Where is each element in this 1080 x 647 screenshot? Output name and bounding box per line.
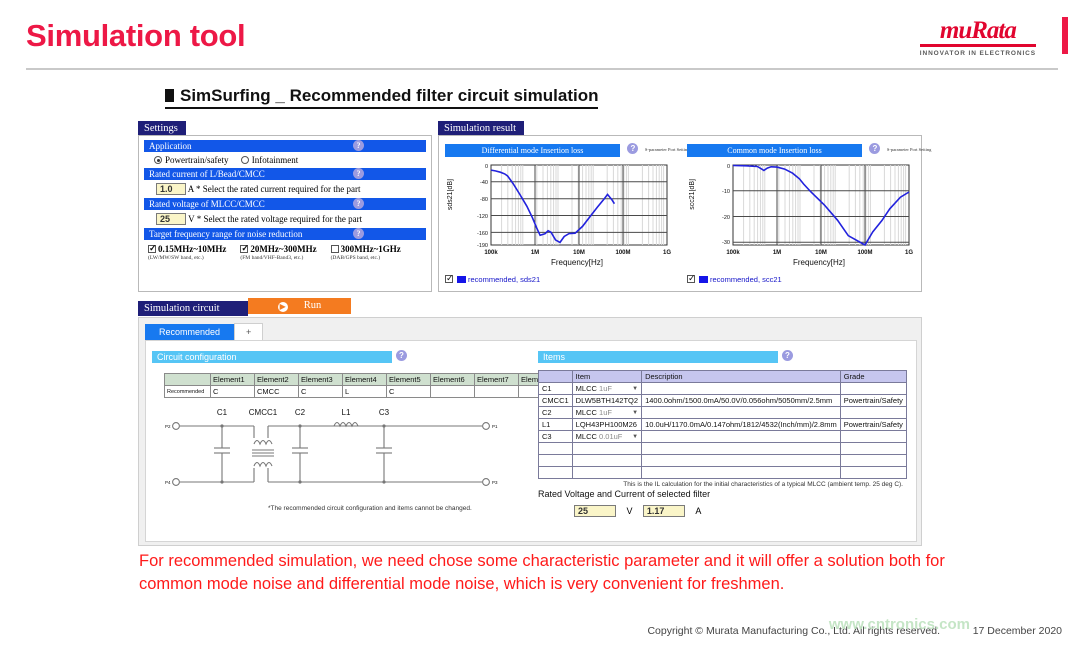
table-header-row: Element1 Element2 Element3 Element4 Elem… bbox=[165, 374, 563, 386]
svg-text:0: 0 bbox=[485, 164, 488, 170]
svg-text:-40: -40 bbox=[480, 180, 488, 186]
items-row-4-desc bbox=[642, 431, 841, 443]
component-label-cmcc1: CMCC1 bbox=[249, 408, 278, 417]
circuit-schematic: P2 P4 P1 P3 C1 CMCC1 C2 L1 C3 bbox=[152, 404, 532, 504]
svg-text:1M: 1M bbox=[531, 250, 539, 256]
group-target-frequency-label: Target frequency range for noise reducti… bbox=[149, 229, 302, 239]
sparam-port-setting-link-1[interactable]: S-parameter Port Setting bbox=[645, 147, 690, 152]
items-row-4-item[interactable]: MLCC 0.01uF▼ bbox=[572, 431, 641, 443]
simulation-result-panel-title: Simulation result bbox=[438, 121, 524, 136]
items-row-5-item[interactable] bbox=[572, 443, 641, 455]
elt-cell-7 bbox=[475, 386, 519, 398]
help-icon[interactable]: ? bbox=[869, 143, 880, 154]
checkbox-freq-2-sub: (FM band/VHF-Band3, etc.) bbox=[240, 255, 316, 261]
svg-text:10M: 10M bbox=[573, 250, 585, 256]
elt-cell-1: C bbox=[211, 386, 255, 398]
items-row-4-item-value: 0.01uF bbox=[599, 432, 622, 441]
items-row-4-item-name: MLCC bbox=[576, 432, 597, 441]
table-row: L1 LQH43PH100M26 10.0uH/1170.0mA/0.147oh… bbox=[539, 419, 907, 431]
chart-2-legend[interactable]: recommended, scc21 bbox=[687, 275, 925, 284]
items-row-1-desc: 1400.0ohm/1500.0mA/50.0V/0.056ohm/5050mm… bbox=[642, 395, 841, 407]
circuit-tabs: Recommended+ bbox=[145, 322, 263, 340]
elt-col-7: Element7 bbox=[475, 374, 519, 386]
items-row-3-desc: 10.0uH/1170.0mA/0.147ohm/1812/4532(Inch/… bbox=[642, 419, 841, 431]
table-row bbox=[539, 455, 907, 467]
svg-text:-10: -10 bbox=[722, 189, 730, 195]
items-row-0-desc bbox=[642, 383, 841, 395]
simulation-circuit-panel-title: Simulation circuit bbox=[138, 301, 248, 316]
table-row bbox=[539, 467, 907, 479]
chevron-down-icon: ▼ bbox=[632, 386, 638, 392]
svg-text:100k: 100k bbox=[726, 250, 740, 256]
checkbox-freq-1-sub: (LW/MW/SW band, etc.) bbox=[148, 255, 226, 261]
items-row-2-idx: C2 bbox=[539, 407, 573, 419]
help-icon[interactable]: ? bbox=[782, 350, 793, 361]
chart-common-mode: Common mode Insertion loss ? S-parameter… bbox=[687, 140, 925, 290]
run-button[interactable]: ▶Run bbox=[248, 298, 351, 314]
chart-2-legend-label: recommended, scc21 bbox=[710, 275, 782, 284]
radio-icon bbox=[241, 156, 249, 164]
radio-powertrain-label: Powertrain/safety bbox=[165, 155, 228, 165]
svg-text:100k: 100k bbox=[484, 250, 498, 256]
items-row-3-grade: Powertrain/Safety bbox=[840, 419, 906, 431]
run-button-label: Run bbox=[304, 300, 322, 311]
items-row-5-idx bbox=[539, 443, 573, 455]
svg-text:-190: -190 bbox=[477, 243, 488, 249]
filter-current-unit: A bbox=[695, 506, 701, 516]
simulation-result-panel: Differential mode Insertion loss ? S-par… bbox=[438, 135, 922, 292]
svg-text:100M: 100M bbox=[615, 250, 630, 256]
elt-rowlabel: Recommended bbox=[165, 386, 211, 398]
component-label-l1: L1 bbox=[342, 408, 351, 417]
simsurfing-app: Settings Application ? Powertrain/safety… bbox=[138, 118, 922, 546]
elt-col-6: Element6 bbox=[431, 374, 475, 386]
play-icon: ▶ bbox=[278, 302, 288, 312]
items-row-0-item-name: MLCC bbox=[576, 384, 597, 393]
filter-rated-current-input[interactable]: 1.17 bbox=[643, 505, 685, 517]
items-row-2-item-name: MLCC bbox=[576, 408, 597, 417]
checkbox-freq-1-label: 0.15MHz~10MHz bbox=[158, 244, 226, 254]
filter-rated-voltage-input[interactable]: 25 bbox=[574, 505, 616, 517]
checkbox-icon bbox=[331, 245, 339, 253]
component-label-c3: C3 bbox=[379, 408, 390, 417]
radio-infotainment[interactable]: Infotainment bbox=[241, 155, 299, 165]
items-row-4-idx: C3 bbox=[539, 431, 573, 443]
svg-text:0: 0 bbox=[727, 164, 730, 170]
square-bullet-icon bbox=[165, 89, 174, 102]
rated-filter-label: Rated Voltage and Current of selected fi… bbox=[538, 489, 912, 499]
items-row-0-grade bbox=[840, 383, 906, 395]
rated-voltage-unit: V bbox=[188, 214, 194, 224]
group-rated-voltage: Rated voltage of MLCC/CMCC ? bbox=[144, 198, 426, 210]
rated-current-unit: A bbox=[188, 184, 194, 194]
radio-powertrain-safety[interactable]: Powertrain/safety bbox=[154, 155, 228, 165]
group-application-label: Application bbox=[149, 141, 192, 151]
chart-2-plot: 0 -10 -20 -30 100k 1M 10M 100M 1G bbox=[703, 161, 923, 271]
checkbox-icon bbox=[240, 245, 248, 253]
items-row-6-grade bbox=[840, 455, 906, 467]
checkbox-freq-1[interactable]: 0.15MHz~10MHz (LW/MW/SW band, etc.) bbox=[148, 244, 226, 261]
group-application: Application ? bbox=[144, 140, 426, 152]
help-icon[interactable]: ? bbox=[353, 140, 364, 151]
elt-cell-2: CMCC bbox=[255, 386, 299, 398]
elt-cell-3: C bbox=[299, 386, 343, 398]
legend-swatch bbox=[699, 276, 708, 283]
svg-text:1M: 1M bbox=[773, 250, 781, 256]
table-row: C1 MLCC 1uF▼ bbox=[539, 383, 907, 395]
port-label-p2: P2 bbox=[165, 424, 171, 429]
page-title: Simulation tool bbox=[26, 18, 245, 54]
items-col-item: Item bbox=[572, 371, 641, 383]
items-row-5-grade bbox=[840, 443, 906, 455]
table-row: C3 MLCC 0.01uF▼ bbox=[539, 431, 907, 443]
filter-voltage-unit: V bbox=[626, 506, 632, 516]
items-row-2-item[interactable]: MLCC 1uF▼ bbox=[572, 407, 641, 419]
help-icon[interactable]: ? bbox=[353, 198, 364, 209]
rated-current-input[interactable]: 1.0 bbox=[156, 183, 186, 195]
elt-cell-6 bbox=[431, 386, 475, 398]
tab-recommended[interactable]: Recommended bbox=[145, 324, 234, 340]
chart-1-ylabel: sds21[dB] bbox=[447, 179, 454, 210]
chart-1-title: Differential mode Insertion loss bbox=[445, 144, 620, 157]
group-target-frequency: Target frequency range for noise reducti… bbox=[144, 228, 426, 240]
frequency-range-checkboxes: 0.15MHz~10MHz (LW/MW/SW band, etc.) 20MH… bbox=[144, 240, 426, 261]
table-row: CMCC1 DLW5BTH142TQ2 1400.0ohm/1500.0mA/5… bbox=[539, 395, 907, 407]
svg-text:100M: 100M bbox=[857, 250, 872, 256]
legend-swatch bbox=[457, 276, 466, 283]
checkbox-icon bbox=[148, 245, 156, 253]
group-rated-current: Rated current of L/Bead/CMCC ? bbox=[144, 168, 426, 180]
help-icon[interactable]: ? bbox=[353, 228, 364, 239]
elt-col-3: Element3 bbox=[299, 374, 343, 386]
svg-text:1G: 1G bbox=[663, 250, 671, 256]
application-options: Powertrain/safety Infotainment bbox=[144, 152, 426, 168]
checkbox-freq-3-sub: (DAB/GPS band, etc.) bbox=[331, 255, 401, 261]
rated-current-row: 1.0 A * Select the rated current require… bbox=[144, 180, 426, 198]
help-icon[interactable]: ? bbox=[396, 350, 407, 361]
circuit-configuration-bar: Circuit configuration bbox=[152, 351, 392, 363]
items-row-2-grade bbox=[840, 407, 906, 419]
items-row-7-item[interactable] bbox=[572, 467, 641, 479]
simulation-circuit-header: Simulation circuit▶Run bbox=[138, 298, 351, 316]
logo-wordmark: muRata bbox=[920, 18, 1036, 47]
items-col-description: Description bbox=[642, 371, 841, 383]
il-note: This is the IL calculation for the initi… bbox=[538, 481, 903, 488]
chart-2-xlabel: Frequency[Hz] bbox=[739, 258, 899, 267]
items-row-1-grade: Powertrain/Safety bbox=[840, 395, 906, 407]
checkbox-icon[interactable] bbox=[445, 275, 453, 283]
items-row-2-item-value: 1uF bbox=[599, 408, 612, 417]
svg-text:10M: 10M bbox=[815, 250, 827, 256]
chart-1-xlabel: Frequency[Hz] bbox=[497, 258, 657, 267]
items-table: Item Description Grade C1 MLCC 1uF▼ CMCC… bbox=[538, 370, 907, 479]
footer-date: 17 December 2020 bbox=[973, 625, 1062, 637]
port-label-p4: P4 bbox=[165, 480, 171, 485]
svg-text:-120: -120 bbox=[477, 214, 488, 220]
table-row: C2 MLCC 1uF▼ bbox=[539, 407, 907, 419]
header-accent-bar bbox=[1062, 17, 1068, 54]
circuit-pane: Circuit configuration? Element1 Element2… bbox=[145, 340, 917, 542]
group-rated-voltage-label: Rated voltage of MLCC/CMCC bbox=[149, 199, 265, 209]
radio-icon bbox=[154, 156, 162, 164]
table-header-row: Item Description Grade bbox=[539, 371, 907, 383]
watermark: www.cntronics.com bbox=[829, 616, 970, 633]
svg-text:-30: -30 bbox=[722, 240, 730, 246]
component-label-c2: C2 bbox=[295, 408, 306, 417]
svg-text:1G: 1G bbox=[905, 250, 913, 256]
items-row-2-desc bbox=[642, 407, 841, 419]
header-divider bbox=[26, 68, 1058, 70]
chart-differential-mode: Differential mode Insertion loss ? S-par… bbox=[445, 140, 683, 290]
rated-voltage-row: 25 V * Select the rated voltage required… bbox=[144, 210, 426, 228]
circuit-note: *The recommended circuit configuration a… bbox=[268, 505, 534, 512]
items-row-1-item[interactable]: DLW5BTH142TQ2 bbox=[572, 395, 641, 407]
radio-infotainment-label: Infotainment bbox=[252, 155, 299, 165]
svg-text:-160: -160 bbox=[477, 231, 488, 237]
help-icon[interactable]: ? bbox=[353, 168, 364, 179]
checkbox-freq-3-label: 300MHz~1GHz bbox=[341, 244, 401, 254]
murata-logo: muRata INNOVATOR IN ELECTRONICS bbox=[920, 18, 1036, 57]
rated-voltage-hint: * Select the rated voltage required for … bbox=[197, 214, 362, 224]
logo-tagline: INNOVATOR IN ELECTRONICS bbox=[920, 50, 1036, 57]
items-row-7-grade bbox=[840, 467, 906, 479]
chart-2-title: Common mode Insertion loss bbox=[687, 144, 862, 157]
items-row-7-idx bbox=[539, 467, 573, 479]
tab-add-button[interactable]: + bbox=[234, 323, 263, 340]
sparam-port-setting-link-2[interactable]: S-parameter Port Setting bbox=[887, 147, 932, 152]
chart-1-plot: 0 -40 -80 -120 -160 -190 100k 1M 10M 100… bbox=[461, 161, 681, 271]
rated-current-hint: * Select the rated current required for … bbox=[196, 184, 360, 194]
help-icon[interactable]: ? bbox=[627, 143, 638, 154]
port-label-p1: P1 bbox=[492, 424, 498, 429]
settings-panel: Application ? Powertrain/safety Infotain… bbox=[138, 135, 432, 292]
table-row: Recommended C CMCC C L C bbox=[165, 386, 563, 398]
svg-text:-80: -80 bbox=[480, 197, 488, 203]
checkbox-icon[interactable] bbox=[687, 275, 695, 283]
checkbox-freq-3[interactable]: 300MHz~1GHz (DAB/GPS band, etc.) bbox=[331, 244, 401, 261]
elt-col-4: Element4 bbox=[343, 374, 387, 386]
items-bar: Items bbox=[538, 351, 778, 363]
items-row-1-idx: CMCC1 bbox=[539, 395, 573, 407]
items-row-6-item[interactable] bbox=[572, 455, 641, 467]
elt-col-1: Element1 bbox=[211, 374, 255, 386]
chart-1-legend[interactable]: recommended, sds21 bbox=[445, 275, 683, 284]
elt-col-0 bbox=[165, 374, 211, 386]
svg-text:-20: -20 bbox=[722, 215, 730, 221]
chevron-down-icon: ▼ bbox=[632, 410, 638, 416]
section-heading: SimSurfing _ Recommended filter circuit … bbox=[165, 86, 598, 109]
section-heading-label: SimSurfing _ Recommended filter circuit … bbox=[180, 86, 598, 105]
chevron-down-icon: ▼ bbox=[632, 434, 638, 440]
chart-2-ylabel: scc21[dB] bbox=[689, 179, 696, 210]
items-row-0-idx: C1 bbox=[539, 383, 573, 395]
items-row-3-idx: L1 bbox=[539, 419, 573, 431]
items-row-0-item[interactable]: MLCC 1uF▼ bbox=[572, 383, 641, 395]
elt-col-5: Element5 bbox=[387, 374, 431, 386]
rated-voltage-input[interactable]: 25 bbox=[156, 213, 186, 225]
table-row bbox=[539, 443, 907, 455]
elt-cell-4: L bbox=[343, 386, 387, 398]
items-row-4-grade bbox=[840, 431, 906, 443]
items-col-grade: Grade bbox=[840, 371, 906, 383]
chart-1-legend-label: recommended, sds21 bbox=[468, 275, 540, 284]
items-row-0-item-value: 1uF bbox=[599, 384, 612, 393]
checkbox-freq-2[interactable]: 20MHz~300MHz (FM band/VHF-Band3, etc.) bbox=[240, 244, 316, 261]
settings-panel-title: Settings bbox=[138, 121, 186, 136]
body-text: For recommended simulation, we need chos… bbox=[139, 550, 969, 597]
port-label-p3: P3 bbox=[492, 480, 498, 485]
rated-filter-values: 25 V 1.17 A bbox=[574, 501, 912, 519]
group-rated-current-label: Rated current of L/Bead/CMCC bbox=[149, 169, 265, 179]
element-table: Element1 Element2 Element3 Element4 Elem… bbox=[164, 373, 563, 398]
simulation-circuit-body: Recommended+ Circuit configuration? Elem… bbox=[138, 317, 922, 546]
items-row-6-idx bbox=[539, 455, 573, 467]
slide: Simulation tool muRata INNOVATOR IN ELEC… bbox=[0, 0, 1080, 647]
items-row-3-item[interactable]: LQH43PH100M26 bbox=[572, 419, 641, 431]
component-label-c1: C1 bbox=[217, 408, 228, 417]
items-row-7-desc bbox=[642, 467, 841, 479]
elt-cell-5: C bbox=[387, 386, 431, 398]
items-col-0 bbox=[539, 371, 573, 383]
elt-col-2: Element2 bbox=[255, 374, 299, 386]
items-row-5-desc bbox=[642, 443, 841, 455]
items-row-6-desc bbox=[642, 455, 841, 467]
checkbox-freq-2-label: 20MHz~300MHz bbox=[250, 244, 316, 254]
